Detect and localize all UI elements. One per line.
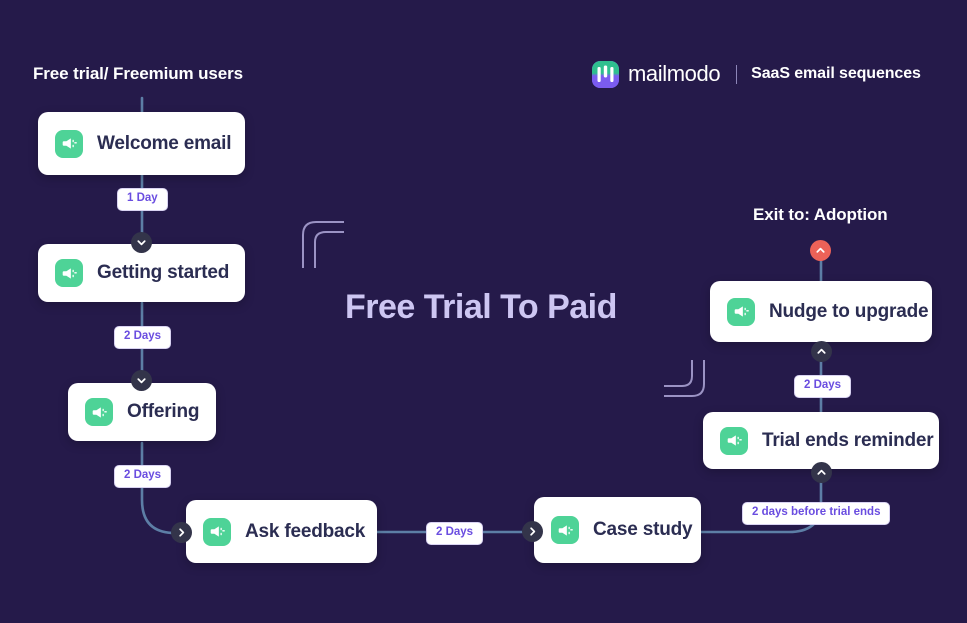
delay-badge-case-study-trial-ends[interactable]: 2 days before trial ends: [742, 502, 890, 525]
node-nudge-to-upgrade[interactable]: Nudge to upgrade: [710, 281, 932, 342]
center-title: Free Trial To Paid: [345, 288, 617, 327]
delay-badge-ask-feedback-case-study[interactable]: 2 Days: [426, 522, 483, 545]
edge-offering-ask-feedback: [142, 443, 183, 533]
node-welcome-email[interactable]: Welcome email: [38, 112, 245, 175]
node-ask-feedback[interactable]: Ask feedback: [186, 500, 377, 563]
megaphone-icon: [551, 516, 579, 544]
delay-badge-getting-started-offering[interactable]: 2 Days: [114, 326, 171, 349]
chevron-down-icon-getting-started[interactable]: [131, 232, 152, 253]
mailmodo-logo-icon: [592, 61, 619, 88]
chevron-up-icon-trial-ends-reminder[interactable]: [811, 462, 832, 483]
flowchart-canvas: Free trial/ Freemium users Exit to: Adop…: [0, 0, 967, 623]
megaphone-icon: [55, 130, 83, 158]
megaphone-icon: [85, 398, 113, 426]
chevron-right-icon-case-study[interactable]: [522, 521, 543, 542]
exit-heading: Exit to: Adoption: [753, 205, 888, 225]
entry-heading: Free trial/ Freemium users: [33, 64, 243, 84]
delay-badge-trial-ends-nudge[interactable]: 2 Days: [794, 375, 851, 398]
chevron-down-icon-offering[interactable]: [131, 370, 152, 391]
megaphone-icon: [55, 259, 83, 287]
brand-name: mailmodo: [628, 61, 720, 87]
corner-arc-decoration-right: [662, 358, 710, 404]
megaphone-icon: [727, 298, 755, 326]
node-label: Getting started: [97, 262, 229, 284]
node-trial-ends-reminder[interactable]: Trial ends reminder: [703, 412, 939, 469]
node-label: Ask feedback: [245, 521, 365, 543]
node-label: Offering: [127, 401, 199, 423]
chevron-right-icon-ask-feedback[interactable]: [171, 522, 192, 543]
corner-arc-decoration-left: [300, 218, 350, 270]
delay-badge-offering-ask-feedback[interactable]: 2 Days: [114, 465, 171, 488]
node-offering[interactable]: Offering: [68, 383, 216, 441]
megaphone-icon: [720, 427, 748, 455]
chevron-up-icon-exit-adoption[interactable]: [810, 240, 831, 261]
node-label: Case study: [593, 519, 692, 541]
brand-separator: [736, 65, 737, 84]
brand-lockup: mailmodo SaaS email sequences: [592, 60, 921, 88]
node-case-study[interactable]: Case study: [534, 497, 701, 563]
chevron-up-icon-nudge-to-upgrade[interactable]: [811, 341, 832, 362]
megaphone-icon: [203, 518, 231, 546]
brand-tagline: SaaS email sequences: [751, 65, 921, 83]
delay-badge-1-day[interactable]: 1 Day: [117, 188, 168, 211]
node-label: Nudge to upgrade: [769, 301, 928, 323]
node-label: Trial ends reminder: [762, 430, 934, 452]
node-label: Welcome email: [97, 133, 231, 155]
